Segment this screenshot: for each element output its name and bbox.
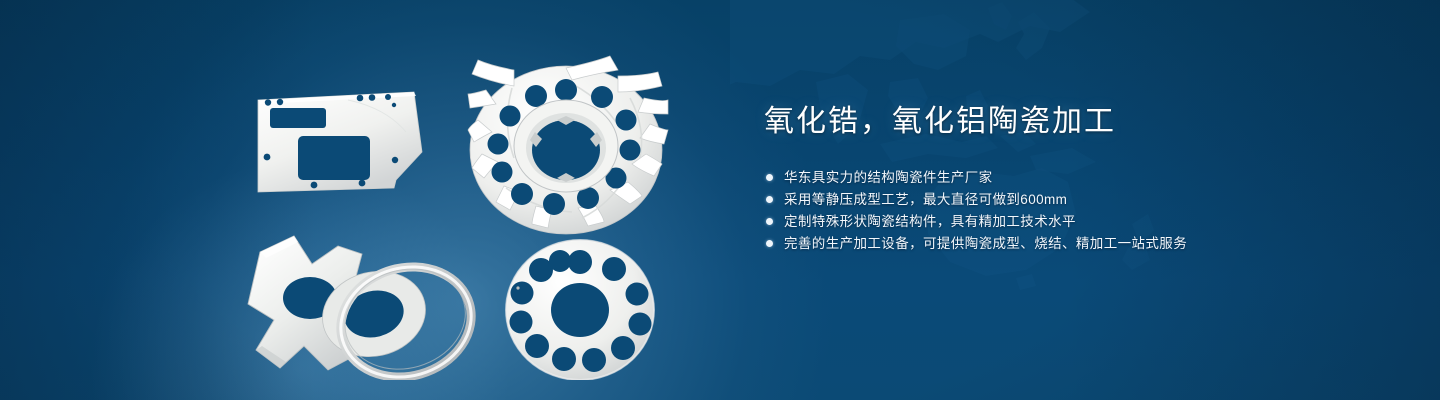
banner-copy: 氧化锆，氧化铝陶瓷加工 华东具实力的结构陶瓷件生产厂家 采用等静压成型工艺，最大… [764, 104, 1384, 258]
ceramic-impeller-part [468, 56, 668, 234]
bullet-dot-icon [766, 218, 773, 225]
list-item: 采用等静压成型工艺，最大直径可做到600mm [766, 192, 1384, 207]
feature-text: 完善的生产加工设备，可提供陶瓷成型、烧结、精加工一站式服务 [784, 236, 1187, 251]
ceramic-products-image [236, 40, 706, 380]
feature-text: 华东具实力的结构陶瓷件生产厂家 [784, 170, 993, 185]
ceramic-products-banner: 氧化锆，氧化铝陶瓷加工 华东具实力的结构陶瓷件生产厂家 采用等静压成型工艺，最大… [0, 0, 1440, 400]
ceramic-plate-part [258, 92, 422, 192]
banner-headline: 氧化锆，氧化铝陶瓷加工 [764, 104, 1384, 140]
feature-text: 定制特殊形状陶瓷结构件，具有精加工技术水平 [784, 214, 1076, 229]
list-item: 华东具实力的结构陶瓷件生产厂家 [766, 170, 1384, 185]
bullet-dot-icon [766, 174, 773, 181]
feature-text: 采用等静压成型工艺，最大直径可做到600mm [784, 192, 1067, 207]
list-item: 完善的生产加工设备，可提供陶瓷成型、烧结、精加工一站式服务 [766, 236, 1384, 251]
list-item: 定制特殊形状陶瓷结构件，具有精加工技术水平 [766, 214, 1384, 229]
bullet-dot-icon [766, 196, 773, 203]
ceramic-perforated-disc-part [506, 240, 654, 380]
banner-feature-list: 华东具实力的结构陶瓷件生产厂家 采用等静压成型工艺，最大直径可做到600mm 定… [766, 170, 1384, 251]
bullet-dot-icon [766, 240, 773, 247]
